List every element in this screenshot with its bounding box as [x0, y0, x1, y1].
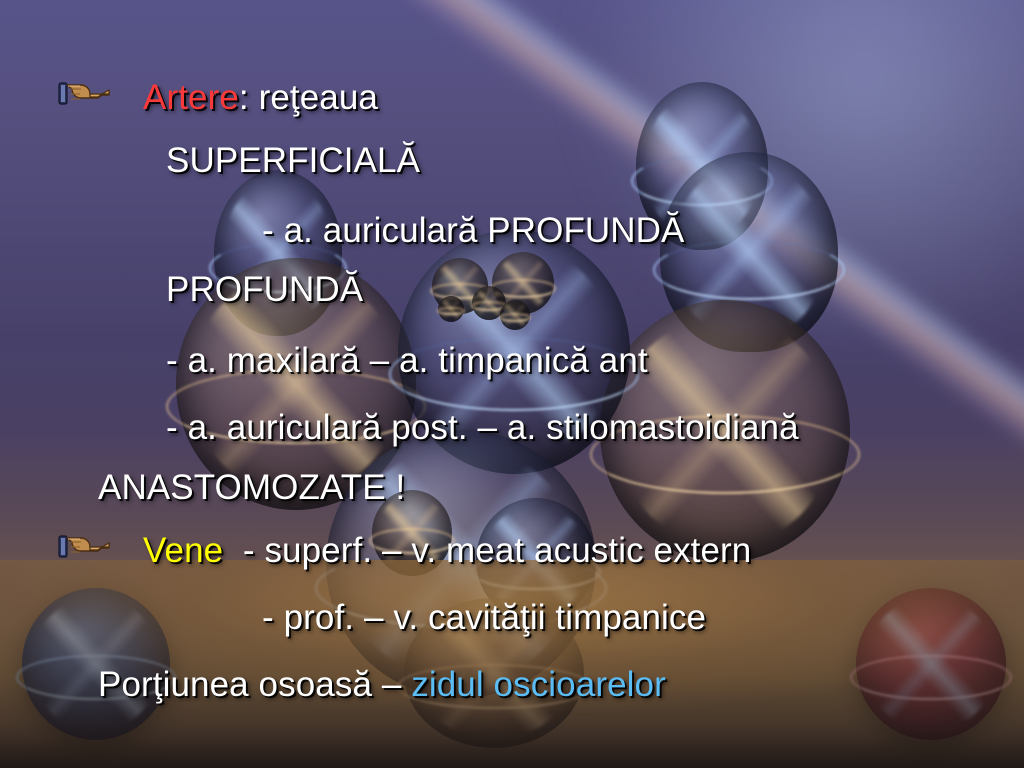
anastomozate-text: ANASTOMOZATE !: [98, 468, 405, 507]
text-line-arteres: Artere: reţeaua: [143, 80, 378, 115]
prof-cavitatii-text: - prof. – v. cavităţii timpanice: [262, 598, 706, 637]
arteres-rest: : reţeaua: [239, 78, 378, 117]
text-line-auriculara-post: - a. auriculară post. – a. stilomastoidi…: [166, 410, 799, 445]
zidul-oscioarelor-text: zidul oscioarelor: [411, 665, 666, 704]
arteres-keyword: Artere: [143, 78, 239, 117]
profunda-text: PROFUNDĂ: [166, 270, 363, 309]
vene-keyword: Vene: [143, 531, 223, 570]
portiunea-osoasa-text: Porţiunea osoasă –: [98, 665, 411, 704]
auriculara-profunda-text: - a. auriculară PROFUNDĂ: [262, 211, 685, 250]
pointing-hand-icon: [58, 531, 114, 561]
text-line-portiunea-osoasa: Porţiunea osoasă – zidul oscioarelor: [98, 667, 666, 702]
slide-text-content: Artere: reţeaua SUPERFICIALĂ - a. auricu…: [0, 0, 1024, 768]
text-line-anastomozate: ANASTOMOZATE !: [98, 470, 405, 505]
text-line-prof-cavitatii: - prof. – v. cavităţii timpanice: [262, 600, 706, 635]
text-line-superficiala: SUPERFICIALĂ: [166, 143, 420, 178]
text-line-profunda: PROFUNDĂ: [166, 272, 363, 307]
vene-rest: - superf. – v. meat acustic extern: [223, 531, 751, 570]
text-line-vene: Vene - superf. – v. meat acustic extern: [143, 533, 751, 568]
text-line-maxilara: - a. maxilară – a. timpanică ant: [166, 343, 648, 378]
text-line-auriculara-profunda: - a. auriculară PROFUNDĂ: [262, 213, 685, 248]
maxilara-text: - a. maxilară – a. timpanică ant: [166, 341, 648, 380]
superficiala-text: SUPERFICIALĂ: [166, 141, 420, 180]
auriculara-post-text: - a. auriculară post. – a. stilomastoidi…: [166, 408, 799, 447]
slide-canvas: Artere: reţeaua SUPERFICIALĂ - a. auricu…: [0, 0, 1024, 768]
pointing-hand-icon: [58, 78, 114, 108]
